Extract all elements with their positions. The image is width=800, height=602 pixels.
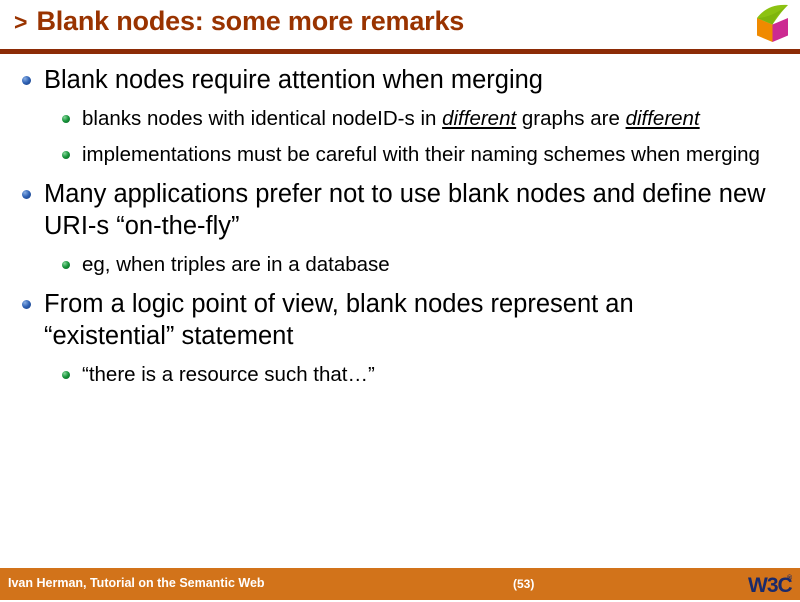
w3c-wordmark-logo-icon: W3C ® [748, 571, 794, 597]
bullet-text: eg, when triples are in a database [82, 253, 390, 276]
slide: > Blank nodes: some more remarks Blank n… [0, 0, 800, 600]
svg-text:®: ® [787, 574, 793, 582]
bullet-level2: blanks nodes with identical nodeID-s in … [0, 106, 790, 132]
bullet-sphere-green-icon [62, 261, 70, 269]
slide-header: > Blank nodes: some more remarks [0, 0, 800, 55]
slide-body: Blank nodes require attention when mergi… [0, 62, 800, 562]
page-title: > Blank nodes: some more remarks [14, 8, 464, 35]
bullet-sphere-blue-icon [22, 190, 31, 199]
bullet-level1: Many applications prefer not to use blan… [0, 178, 770, 242]
bullet-sphere-green-icon [62, 371, 70, 379]
footer-author-line: Ivan Herman, Tutorial on the Semantic We… [8, 576, 265, 590]
slide-footer: Ivan Herman, Tutorial on the Semantic We… [0, 568, 800, 600]
bullet-text-emphasis-2: different [626, 107, 700, 130]
bullet-level2: “there is a resource such that…” [0, 362, 790, 388]
bullet-sphere-green-icon [62, 151, 70, 159]
header-divider [0, 49, 800, 54]
svg-text:W3C: W3C [748, 574, 793, 597]
bullet-text: “there is a resource such that…” [82, 363, 375, 386]
title-caret-icon: > [14, 11, 27, 34]
bullet-sphere-green-icon [62, 115, 70, 123]
bullet-text: From a logic point of view, blank nodes … [44, 290, 634, 350]
bullet-text: implementations must be careful with the… [82, 143, 760, 166]
bullet-text-mid: graphs are [516, 107, 625, 130]
bullet-level2: eg, when triples are in a database [0, 252, 790, 278]
bullet-text: Many applications prefer not to use blan… [44, 180, 766, 240]
bullet-sphere-blue-icon [22, 300, 31, 309]
bullet-text-emphasis-1: different [442, 107, 516, 130]
bullet-sphere-blue-icon [22, 76, 31, 85]
bullet-level2: implementations must be careful with the… [0, 142, 790, 168]
page-number: (53) [513, 577, 534, 591]
bullet-text: Blank nodes require attention when mergi… [44, 66, 543, 94]
bullet-level1: Blank nodes require attention when mergi… [0, 64, 770, 96]
bullet-level1: From a logic point of view, blank nodes … [0, 288, 770, 352]
title-text: Blank nodes: some more remarks [36, 8, 464, 35]
bullet-text-pre: blanks nodes with identical nodeID-s in [82, 107, 442, 130]
w3c-cube-logo-icon [751, 2, 795, 46]
